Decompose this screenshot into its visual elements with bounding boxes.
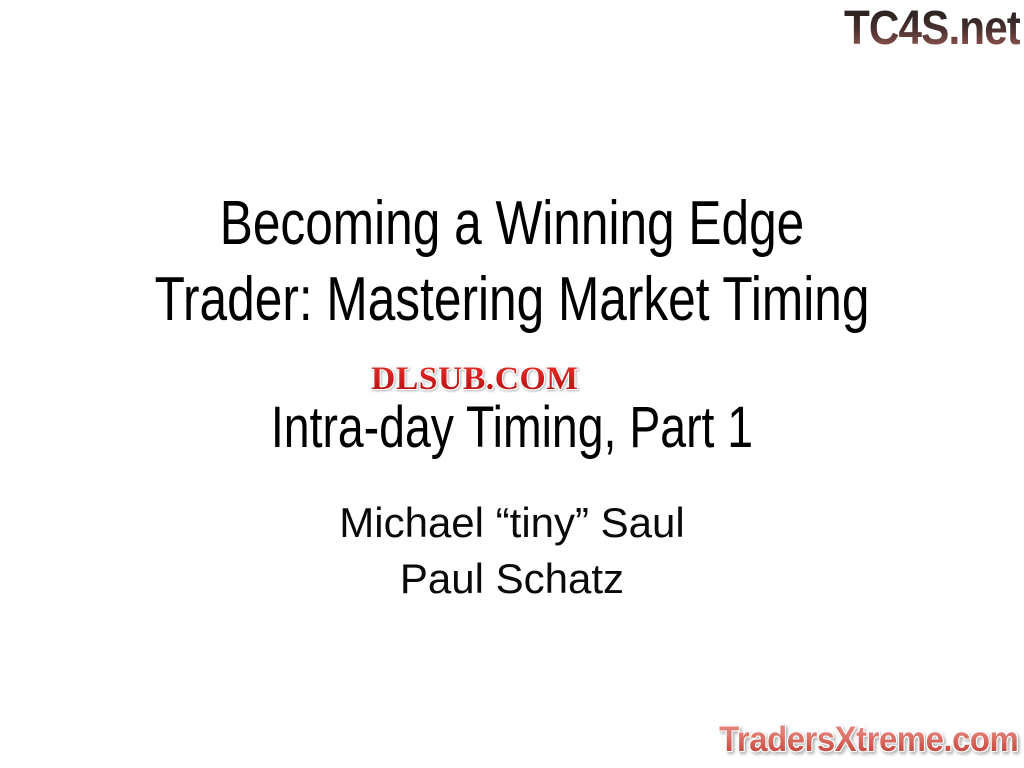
title-line-2: Trader: Mastering Market Timing [102,262,921,338]
watermark-tc4s-net: TC4S.net [844,1,1020,56]
title-line-1: Becoming a Winning Edge [102,186,921,262]
watermark-dlsub-com: DLSUB.COM [371,361,579,398]
slide-title: Becoming a Winning Edge Trader: Masterin… [0,186,1024,338]
slide-subtitle: Intra-day Timing, Part 1 [0,395,1024,461]
watermark-tradersxtreme-com: TradersXtreme.com [719,720,1018,760]
subtitle-line-1: Intra-day Timing, Part 1 [102,395,921,461]
author-line-1: Michael “tiny” Saul [0,495,1024,551]
author-line-2: Paul Schatz [0,551,1024,607]
slide-authors: Michael “tiny” Saul Paul Schatz [0,495,1024,607]
presentation-slide: TC4S.net Becoming a Winning Edge Trader:… [0,0,1024,768]
